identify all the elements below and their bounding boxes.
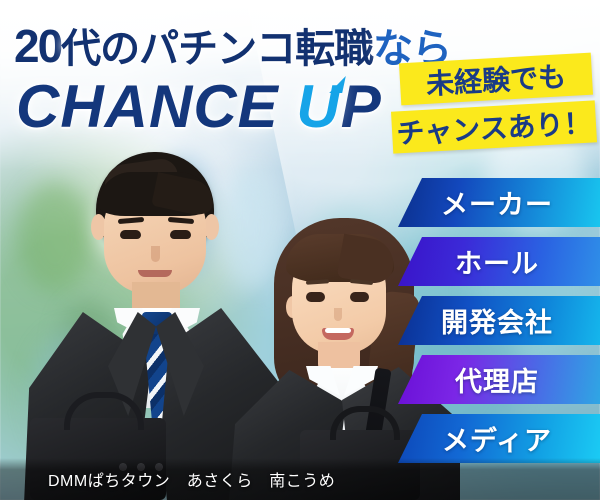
category-label: メディア	[398, 419, 600, 458]
headline-body: 代のパチンコ転職	[61, 27, 373, 71]
logo-letter-p: P	[341, 73, 382, 140]
ear-right	[204, 214, 219, 240]
hair-fringe	[286, 234, 394, 282]
chance-up-logo: CHANCE UP	[16, 72, 382, 141]
logo-letter-u: U	[296, 72, 340, 141]
credit-bar: DMMぱちタウン あさくら 南こうめ	[0, 458, 600, 500]
category-list: メーカー ホール 開発会社 代理店 メディア	[398, 178, 600, 473]
credit-text: DMMぱちタウン あさくら 南こうめ	[48, 467, 335, 491]
headline: 20代のパチンコ転職なら	[14, 16, 451, 74]
category-item-media[interactable]: メディア	[398, 414, 600, 463]
nose	[334, 308, 342, 321]
eye-left	[120, 230, 141, 239]
nose	[151, 246, 160, 262]
category-item-agency[interactable]: 代理店	[398, 355, 600, 404]
category-item-developer[interactable]: 開発会社	[398, 296, 600, 345]
category-label: ホール	[398, 242, 600, 281]
hair-fringe	[98, 172, 212, 216]
eye-right	[350, 292, 369, 302]
category-label: メーカー	[398, 183, 600, 222]
badge-label: 未経験でも	[425, 55, 567, 103]
category-label: 代理店	[398, 360, 600, 399]
category-item-hall[interactable]: ホール	[398, 237, 600, 286]
category-item-maker[interactable]: メーカー	[398, 178, 600, 227]
category-label: 開発会社	[398, 301, 600, 340]
advertisement-banner[interactable]: 20代のパチンコ転職なら CHANCE UP 未経験でも チャンスあり！ メーカ…	[0, 0, 600, 500]
eye-left	[306, 292, 325, 302]
mouth	[138, 270, 172, 277]
eye-right	[170, 230, 191, 239]
logo-word-chance: CHANCE	[16, 73, 279, 140]
mouth	[322, 328, 354, 340]
headline-number: 20	[14, 20, 61, 72]
